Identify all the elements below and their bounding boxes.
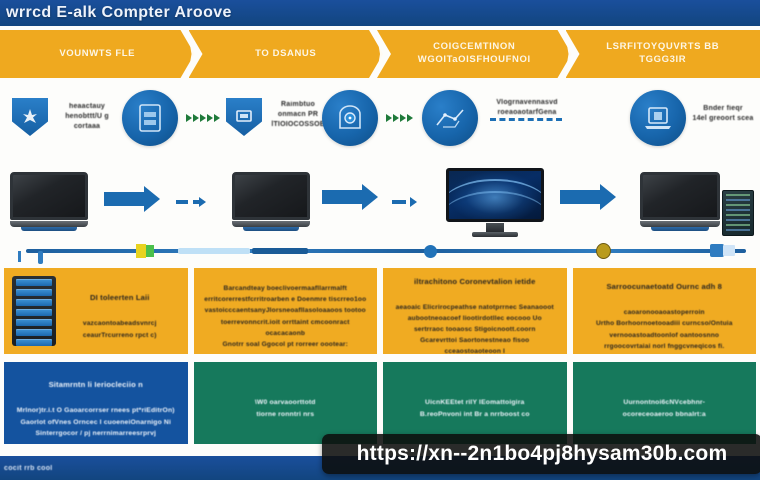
bottom-card-2-body: \W0 oarvaoorttotd tiorne ronntri nrs bbox=[255, 399, 316, 418]
green-arrows-icon bbox=[386, 114, 413, 122]
laptop-screen bbox=[10, 172, 88, 220]
infographic-canvas: wrrcd E-alk Compter Aroove VOUNWTS FLE T… bbox=[0, 0, 760, 480]
process-step-4[interactable]: LSRFITOYQUVRTS BB TGGG3IR bbox=[566, 30, 760, 78]
orange-card-3-heading: iltrachitono Coronevtalion ietide bbox=[391, 276, 559, 289]
arrow-shaft bbox=[104, 192, 144, 206]
arrow-head bbox=[600, 184, 616, 210]
process-step-3[interactable]: COIGCEMTINON WGOITaOISFHOUFNOI bbox=[377, 30, 572, 78]
bottom-card-4-body: Uurnontnoi6cNVcebhnr- ocoreceoaeroo bbna… bbox=[623, 399, 706, 418]
bottom-card-3-text: UicnKEEtet rilY IEomattoigira B.reoPnvon… bbox=[420, 385, 530, 421]
blueprint-circuit-icon bbox=[422, 90, 478, 146]
orange-card-1-heading: DI toleerten Laii bbox=[83, 292, 157, 305]
orange-card-1[interactable]: DI toleerten Laii vazcaontoabeadsvnrcj c… bbox=[4, 268, 188, 354]
green-arrows-icon bbox=[186, 114, 220, 122]
url-watermark: https://xn--2n1bo4pj8hysam30b.com bbox=[322, 434, 760, 474]
process-step-band: VOUNWTS FLE TO DSANUS COIGCEMTINON WGOIT… bbox=[0, 30, 760, 78]
orange-card-4-text: Sarroocunaetoatd Ournc adh 8 caoaronooao… bbox=[596, 270, 733, 352]
laptop-icon bbox=[640, 172, 720, 231]
orange-card-4[interactable]: Sarroocunaetoatd Ournc adh 8 caoaronooao… bbox=[573, 268, 757, 354]
laptop-lip bbox=[243, 227, 299, 231]
dashed-line-icon bbox=[490, 118, 562, 121]
server-rack-icon bbox=[122, 90, 178, 146]
arrow-shaft bbox=[176, 200, 188, 204]
orange-card-3[interactable]: iltrachitono Coronevtalion ietide aeaoai… bbox=[383, 268, 567, 354]
desktop-monitor-icon bbox=[446, 168, 544, 237]
bottom-card-row: Sitamrntn li Ieriocleciio n Mrlnor)tr.i.… bbox=[0, 362, 760, 444]
laptop-lip bbox=[21, 227, 77, 231]
bottom-card-1[interactable]: Sitamrntn li Ieriocleciio n Mrlnor)tr.i.… bbox=[4, 362, 188, 444]
process-step-1[interactable]: VOUNWTS FLE bbox=[0, 30, 195, 78]
process-step-3-label: COIGCEMTINON WGOITaOISFHOUFNOI bbox=[393, 41, 556, 67]
laptop-doc-glyph-icon bbox=[642, 104, 674, 132]
orange-card-4-heading: Sarroocunaetoatd Ournc adh 8 bbox=[596, 281, 733, 294]
arrow-head bbox=[199, 197, 206, 207]
orange-card-4-body: caoaronooaoastoperroin Urtho Borhoornoet… bbox=[596, 309, 733, 350]
watermark-url-text: https://xn--2n1bo4pj8hysam30b.com bbox=[357, 442, 728, 466]
shield-alert-icon bbox=[12, 98, 48, 136]
cable-line bbox=[26, 249, 746, 253]
cable-node-marker bbox=[424, 245, 437, 258]
arrow-head bbox=[362, 184, 378, 210]
blue-arrow-icon bbox=[104, 192, 162, 212]
bottom-card-2[interactable]: \W0 oarvaoorttotd tiorne ronntri nrs bbox=[194, 362, 378, 444]
cable-drop-marker bbox=[18, 251, 21, 262]
disc-drive-icon bbox=[322, 90, 378, 146]
arrow-shaft bbox=[392, 200, 406, 204]
laptop-icon bbox=[10, 172, 88, 231]
blue-arrow-icon bbox=[560, 190, 618, 210]
disc-glyph-icon bbox=[335, 104, 365, 132]
orange-card-3-text: iltrachitono Coronevtalion ietide aeaoai… bbox=[391, 264, 559, 357]
laptop-icon bbox=[232, 172, 310, 231]
bottom-card-3[interactable]: UicnKEEtet rilY IEomattoigira B.reoPnvon… bbox=[383, 362, 567, 444]
process-step-2[interactable]: TO DSANUS bbox=[189, 30, 384, 78]
server-glyph-icon bbox=[137, 103, 163, 133]
rj45-plug-marker bbox=[710, 244, 724, 257]
laptop-screen bbox=[640, 172, 720, 220]
small-blue-arrow-icon bbox=[176, 197, 206, 207]
laptop-lip bbox=[651, 227, 709, 231]
icon-flow-row: heaactauy henobttt/U g cortaaa Raimbtuo … bbox=[0, 86, 760, 166]
device-flow-row bbox=[0, 168, 760, 240]
small-blue-arrow-icon bbox=[392, 197, 417, 207]
alert-glyph-icon bbox=[22, 108, 38, 126]
process-step-2-label: TO DSANUS bbox=[255, 48, 316, 61]
icon-label-3: Vlogrnavennasvd roeaoaotarfGena bbox=[486, 98, 568, 118]
title-bar: wrrcd E-alk Compter Aroove bbox=[0, 0, 760, 26]
icon-label-4: Bnder fieqr 14el greoort scea bbox=[688, 104, 758, 124]
bottom-card-1-body: Mrlnor)tr.i.t O Gaoarcorrser rnees pt*ri… bbox=[17, 407, 175, 438]
bottom-card-4[interactable]: Uurnontnoi6cNVcebhnr- ocoreceoaeroo bbna… bbox=[573, 362, 757, 444]
arrow-shaft bbox=[560, 190, 600, 204]
monitor-glyph-icon bbox=[235, 109, 253, 125]
server-tower-icon bbox=[722, 190, 754, 236]
cable-segment-dark bbox=[252, 248, 308, 254]
cable-segment-light bbox=[178, 248, 250, 254]
bottom-card-1-heading: Sitamrntn li Ieriocleciio n bbox=[17, 378, 175, 391]
orange-card-1-text: DI toleerten Laii vazcaontoabeadsvnrcj c… bbox=[35, 281, 157, 341]
cable-drop-marker bbox=[38, 251, 43, 264]
bottom-card-2-text: \W0 oarvaoorttotd tiorne ronntri nrs bbox=[255, 385, 316, 421]
cable-clip-marker bbox=[136, 244, 146, 258]
monitor-shield-icon bbox=[226, 98, 262, 136]
arrow-head bbox=[410, 197, 417, 207]
orange-card-2-body: Barcandteay boeclivoermaafllarrmalft err… bbox=[204, 285, 366, 348]
blue-arrow-icon bbox=[322, 190, 380, 210]
cable-coin-marker bbox=[596, 243, 611, 259]
process-step-4-label: LSRFITOYQUVRTS BB TGGG3IR bbox=[582, 41, 745, 67]
orange-card-1-body: vazcaontoabeadsvnrcj ceaurTrcurreno rpct… bbox=[83, 320, 157, 338]
orange-card-3-body: aeaoaic Elicrirocpeathse natotprrnec Sea… bbox=[396, 304, 554, 356]
process-step-1-label: VOUNWTS FLE bbox=[59, 48, 135, 61]
bottom-card-3-body: UicnKEEtet rilY IEomattoigira B.reoPnvon… bbox=[420, 399, 530, 418]
footer-label: cocit rrb cool bbox=[0, 465, 53, 472]
laptop-document-icon bbox=[630, 90, 686, 146]
arrow-head bbox=[144, 186, 160, 212]
orange-card-row: DI toleerten Laii vazcaontoabeadsvnrcj c… bbox=[0, 268, 760, 354]
monitor-screen bbox=[446, 168, 544, 222]
bottom-card-1-text: Sitamrntn li Ieriocleciio n Mrlnor)tr.i.… bbox=[17, 366, 175, 441]
laptop-screen bbox=[232, 172, 310, 220]
orange-card-2[interactable]: Barcandteay boeclivoermaafllarrmalft err… bbox=[194, 268, 378, 354]
network-cable-icon bbox=[0, 240, 760, 262]
arrow-shaft bbox=[322, 190, 362, 204]
monitor-stand bbox=[486, 223, 504, 232]
rj45-plug-marker bbox=[723, 245, 735, 256]
bottom-card-4-text: Uurnontnoi6cNVcebhnr- ocoreceoaeroo bbna… bbox=[623, 385, 706, 421]
cable-clip-marker bbox=[146, 245, 154, 257]
circuit-glyph-icon bbox=[433, 103, 467, 133]
monitor-foot bbox=[472, 232, 518, 237]
icon-label-1: heaactauy henobttt/U g cortaaa bbox=[50, 102, 124, 132]
page-title: wrrcd E-alk Compter Aroove bbox=[0, 4, 232, 22]
orange-card-2-text: Barcandteay boeclivoermaafllarrmalft err… bbox=[202, 272, 370, 350]
